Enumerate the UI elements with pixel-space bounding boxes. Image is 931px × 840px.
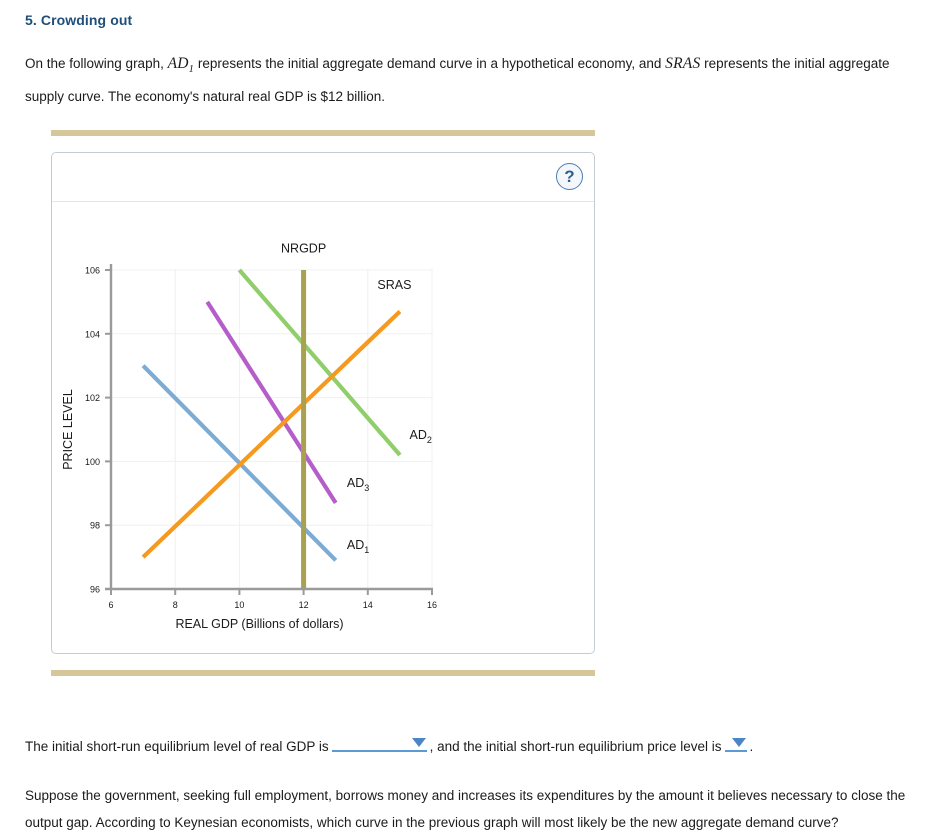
question-1-text-b: , and the initial short-run equilibrium … <box>430 739 722 754</box>
sras-symbol: SRAS <box>665 55 700 72</box>
curve-label-ad1: AD1 <box>347 538 369 555</box>
graph-panel: ? 96981001021041066810121416REAL GDP (Bi… <box>51 152 595 654</box>
chevron-down-icon <box>412 738 426 747</box>
question-line-1: The initial short-run equilibrium level … <box>25 733 925 760</box>
question-line-2: Suppose the government, seeking full emp… <box>25 782 920 836</box>
real-gdp-dropdown-value <box>332 740 334 754</box>
question-1-text-a: The initial short-run equilibrium level … <box>25 739 329 754</box>
curve-ad3 <box>207 302 335 503</box>
curve-sras <box>143 311 400 557</box>
plot-area: 96981001021041066810121416REAL GDP (Bill… <box>52 202 594 653</box>
curve-ad2 <box>239 270 400 455</box>
question-1-text-c: . <box>750 739 754 754</box>
intro-text-part1: On the following graph, <box>25 56 168 71</box>
ad1-symbol: AD1 <box>168 55 195 72</box>
divider-top <box>51 130 595 136</box>
intro-text-part2: represents the initial aggregate demand … <box>194 56 665 71</box>
y-axis-tick-label: 96 <box>90 585 100 595</box>
graph-panel-header: ? <box>52 153 594 202</box>
help-icon[interactable]: ? <box>556 163 583 190</box>
y-axis-tick-label: 98 <box>90 521 100 531</box>
curve-label-ad3: AD3 <box>347 476 369 493</box>
y-axis-tick-label: 106 <box>85 266 100 276</box>
y-axis-tick-label: 102 <box>85 393 100 403</box>
x-axis-tick-label: 8 <box>173 600 178 610</box>
x-axis-title: REAL GDP (Billions of dollars) <box>175 617 343 631</box>
page-title: 5. Crowding out <box>25 12 132 28</box>
price-level-dropdown[interactable] <box>725 733 747 752</box>
aggregate-demand-supply-chart: 96981001021041066810121416REAL GDP (Bill… <box>52 202 594 653</box>
x-axis-tick-label: 6 <box>108 600 113 610</box>
curve-label-nrgdp: NRGDP <box>281 241 326 255</box>
divider-bottom <box>51 670 595 676</box>
curve-label-ad2: AD2 <box>410 428 432 445</box>
y-axis-tick-label: 100 <box>85 457 100 467</box>
x-axis-tick-label: 10 <box>234 600 244 610</box>
y-axis-title: PRICE LEVEL <box>61 389 75 470</box>
x-axis-tick-label: 16 <box>427 600 437 610</box>
price-level-dropdown-value <box>725 740 727 754</box>
intro-paragraph: On the following graph, AD1 represents t… <box>25 50 920 110</box>
x-axis-tick-label: 12 <box>299 600 309 610</box>
chevron-down-icon <box>732 738 746 747</box>
x-axis-tick-label: 14 <box>363 600 373 610</box>
real-gdp-dropdown[interactable] <box>332 733 427 752</box>
curve-label-sras: SRAS <box>377 278 411 292</box>
y-axis-tick-label: 104 <box>85 329 100 339</box>
